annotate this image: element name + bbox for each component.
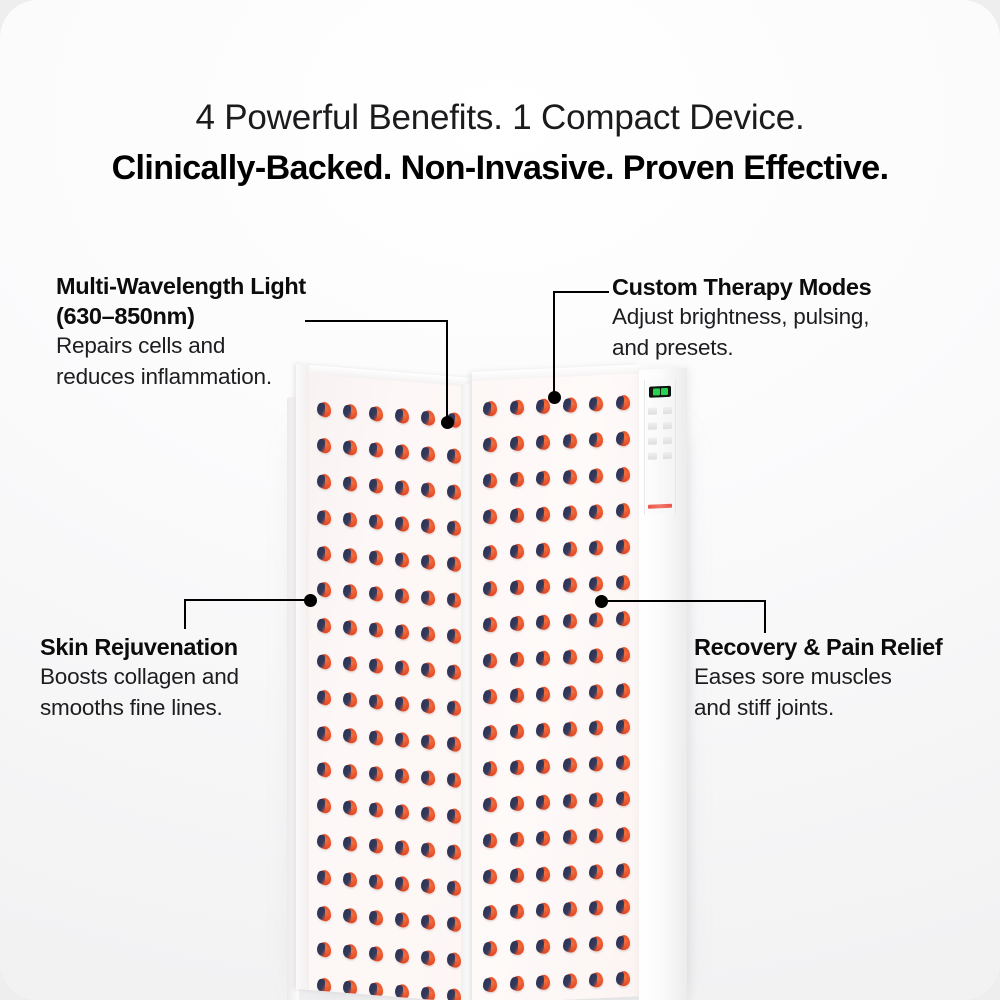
led-dot xyxy=(617,647,630,663)
led-dot xyxy=(344,908,357,924)
led-dot xyxy=(448,556,461,572)
led-dot xyxy=(344,548,357,564)
led-dot xyxy=(590,576,603,592)
led-dot xyxy=(484,617,497,633)
led-dot xyxy=(422,842,435,858)
led-dot xyxy=(590,684,603,700)
led-dot xyxy=(422,410,435,426)
led-dot xyxy=(564,973,577,989)
callout-body-line-2: and presets. xyxy=(612,333,982,364)
callout-title: Recovery & Pain Relief xyxy=(694,632,994,662)
led-dot xyxy=(511,472,524,488)
led-dot xyxy=(617,899,630,915)
control-button[interactable] xyxy=(648,452,657,459)
callout-custom-therapy-modes: Custom Therapy Modes Adjust brightness, … xyxy=(612,272,982,363)
led-dot xyxy=(617,431,630,447)
led-dot xyxy=(370,802,383,818)
led-dot xyxy=(537,902,550,918)
led-dot xyxy=(617,935,630,951)
led-dot xyxy=(318,402,331,418)
led-dot xyxy=(564,505,577,521)
led-dot xyxy=(537,938,550,954)
led-dot xyxy=(396,516,409,532)
led-dot xyxy=(617,791,630,807)
led-dot xyxy=(484,761,497,777)
led-dot xyxy=(370,442,383,458)
callout-body-line-2: smooths fine lines. xyxy=(40,693,370,724)
led-dot xyxy=(344,440,357,456)
led-dot xyxy=(396,984,409,1000)
led-dot xyxy=(511,832,524,848)
led-dot xyxy=(590,936,603,952)
callout-body-line-1: Boosts collagen and xyxy=(40,662,370,693)
control-panel xyxy=(644,379,676,515)
led-dot xyxy=(396,912,409,928)
led-dot xyxy=(396,480,409,496)
led-dot xyxy=(590,972,603,988)
led-dot xyxy=(448,772,461,788)
led-dot xyxy=(537,434,550,450)
callout-body-line-2: reduces inflammation. xyxy=(56,362,456,393)
led-dot xyxy=(396,768,409,784)
led-dot xyxy=(590,612,603,628)
led-dot xyxy=(564,937,577,953)
led-dot xyxy=(370,514,383,530)
led-dot xyxy=(537,830,550,846)
led-dot xyxy=(537,650,550,666)
led-dot xyxy=(484,437,497,453)
led-dot xyxy=(537,578,550,594)
led-dot xyxy=(370,658,383,674)
led-dot xyxy=(590,396,603,412)
led-dot xyxy=(511,580,524,596)
led-dot xyxy=(370,730,383,746)
led-dot xyxy=(422,446,435,462)
led-dot xyxy=(448,484,461,500)
control-button[interactable] xyxy=(663,437,672,444)
led-dot xyxy=(370,874,383,890)
led-dot xyxy=(484,581,497,597)
led-panel-right xyxy=(472,364,640,1000)
led-dot xyxy=(590,864,603,880)
led-dot xyxy=(537,866,550,882)
led-dot xyxy=(511,796,524,812)
led-dot xyxy=(564,829,577,845)
led-dot xyxy=(344,872,357,888)
led-dot xyxy=(564,433,577,449)
led-dot xyxy=(564,397,577,413)
led-dot xyxy=(484,977,497,993)
display-segment xyxy=(661,388,668,395)
led-dot xyxy=(484,941,497,957)
connector-line-custom-modes-horizontal xyxy=(553,291,609,293)
led-dot xyxy=(511,976,524,992)
led-dot xyxy=(318,834,331,850)
led-dot xyxy=(370,550,383,566)
led-dot xyxy=(617,611,630,627)
led-dot xyxy=(318,510,331,526)
led-dot xyxy=(318,546,331,562)
led-dot xyxy=(617,539,630,555)
led-dot xyxy=(537,542,550,558)
led-dot xyxy=(484,689,497,705)
led-dot xyxy=(370,766,383,782)
led-dot xyxy=(318,438,331,454)
callout-body-line-1: Eases sore muscles xyxy=(694,662,994,693)
device-illustration xyxy=(0,0,1000,1000)
led-dot xyxy=(344,836,357,852)
led-dot xyxy=(484,797,497,813)
led-dot xyxy=(511,616,524,632)
led-dot xyxy=(370,946,383,962)
led-dot xyxy=(396,804,409,820)
led-dot xyxy=(590,468,603,484)
led-dot xyxy=(318,582,331,598)
led-dot xyxy=(318,474,331,490)
led-dot xyxy=(344,476,357,492)
led-dot xyxy=(484,833,497,849)
led-dot xyxy=(564,577,577,593)
led-dot xyxy=(617,863,630,879)
led-dot xyxy=(448,448,461,464)
led-dot xyxy=(344,944,357,960)
control-button[interactable] xyxy=(648,437,657,444)
led-dot xyxy=(422,950,435,966)
led-dot xyxy=(617,575,630,591)
led-dot xyxy=(422,698,435,714)
led-dot xyxy=(564,793,577,809)
led-dot xyxy=(370,982,383,998)
led-dot xyxy=(617,827,630,843)
led-dot xyxy=(344,728,357,744)
led-dot xyxy=(564,721,577,737)
led-dot xyxy=(511,688,524,704)
led-dot xyxy=(590,504,603,520)
led-dot xyxy=(537,974,550,990)
led-dot xyxy=(422,914,435,930)
led-dot xyxy=(370,406,383,422)
led-dot xyxy=(484,725,497,741)
control-button[interactable] xyxy=(648,407,657,414)
led-dot xyxy=(511,904,524,920)
led-dot xyxy=(396,552,409,568)
led-dot xyxy=(318,906,331,922)
led-dot xyxy=(344,584,357,600)
led-dot xyxy=(422,482,435,498)
control-button[interactable] xyxy=(663,422,672,429)
led-dot xyxy=(511,508,524,524)
led-dot xyxy=(396,660,409,676)
callout-title: Skin Rejuvenation xyxy=(40,632,370,662)
led-dot xyxy=(537,758,550,774)
led-dot xyxy=(564,901,577,917)
led-dot xyxy=(422,806,435,822)
led-dot xyxy=(564,469,577,485)
led-dot xyxy=(318,798,331,814)
led-dot xyxy=(370,622,383,638)
led-dot xyxy=(422,662,435,678)
callout-body-line-1: Adjust brightness, pulsing, xyxy=(612,302,982,333)
led-dot xyxy=(590,828,603,844)
brand-logo-strip xyxy=(648,504,672,509)
led-dot xyxy=(564,649,577,665)
led-dot xyxy=(537,794,550,810)
connector-dot-skin xyxy=(304,594,317,607)
led-dot xyxy=(318,726,331,742)
led-dot xyxy=(344,800,357,816)
infographic-card: 4 Powerful Benefits. 1 Compact Device. C… xyxy=(0,0,1000,1000)
led-dot xyxy=(448,916,461,932)
callout-skin-rejuvenation: Skin Rejuvenation Boosts collagen and sm… xyxy=(40,632,370,723)
connector-line-skin-horizontal xyxy=(184,599,312,601)
led-dot xyxy=(511,436,524,452)
led-dot xyxy=(422,770,435,786)
right-panel-top-frame xyxy=(472,364,640,381)
led-dot xyxy=(396,840,409,856)
led-dot xyxy=(344,512,357,528)
led-dot xyxy=(396,408,409,424)
led-dot xyxy=(617,395,630,411)
connector-line-skin-vertical xyxy=(184,600,186,629)
led-dot xyxy=(448,988,461,1000)
led-dot xyxy=(448,844,461,860)
led-dot xyxy=(448,736,461,752)
connector-dot-multi-wavelength xyxy=(441,416,454,429)
led-dot xyxy=(564,541,577,557)
connector-line-custom-modes-vertical xyxy=(553,291,555,397)
led-dot xyxy=(564,757,577,773)
led-dot xyxy=(396,732,409,748)
led-dot xyxy=(396,696,409,712)
led-dot xyxy=(564,865,577,881)
led-dot xyxy=(484,653,497,669)
led-dot xyxy=(537,470,550,486)
led-dot xyxy=(422,554,435,570)
led-dot xyxy=(511,652,524,668)
led-dot xyxy=(537,686,550,702)
led-dot xyxy=(484,869,497,885)
led-dot xyxy=(370,910,383,926)
led-dot xyxy=(448,664,461,680)
led-dot xyxy=(590,756,603,772)
led-dot xyxy=(511,544,524,560)
callout-body-line-2: and stiff joints. xyxy=(694,693,994,724)
led-dot xyxy=(617,755,630,771)
led-dot xyxy=(318,978,331,994)
led-dot xyxy=(448,592,461,608)
led-dot xyxy=(422,626,435,642)
led-dot xyxy=(396,624,409,640)
led-dot xyxy=(448,628,461,644)
led-dot xyxy=(537,722,550,738)
led-display-screen xyxy=(649,386,671,398)
led-dot xyxy=(564,613,577,629)
led-dot xyxy=(448,700,461,716)
control-button-grid[interactable] xyxy=(648,407,672,460)
led-dot xyxy=(422,734,435,750)
led-dot xyxy=(484,473,497,489)
led-dot xyxy=(318,762,331,778)
led-dot xyxy=(511,400,524,416)
connector-dot-custom-modes xyxy=(548,391,561,404)
callout-recovery-pain-relief: Recovery & Pain Relief Eases sore muscle… xyxy=(694,632,994,723)
led-dot xyxy=(448,880,461,896)
led-dot xyxy=(370,586,383,602)
led-dot xyxy=(484,905,497,921)
led-dot xyxy=(617,683,630,699)
control-button[interactable] xyxy=(663,452,672,459)
led-dot xyxy=(511,760,524,776)
led-dot xyxy=(537,506,550,522)
display-segment xyxy=(653,388,660,395)
connector-line-recovery-vertical xyxy=(764,600,766,633)
led-dot xyxy=(422,986,435,1000)
callout-body-line-1: Repairs cells and xyxy=(56,331,456,362)
led-dot xyxy=(484,509,497,525)
led-dot xyxy=(396,588,409,604)
led-dot xyxy=(590,792,603,808)
led-dot xyxy=(318,942,331,958)
led-grid-right xyxy=(484,394,640,1000)
led-dot xyxy=(590,648,603,664)
led-dot xyxy=(564,685,577,701)
led-dot xyxy=(537,614,550,630)
callout-title-second-line: (630–850nm) xyxy=(56,301,456,331)
led-dot xyxy=(396,444,409,460)
led-dot xyxy=(617,503,630,519)
led-dot xyxy=(511,868,524,884)
led-dot xyxy=(590,900,603,916)
led-dot xyxy=(370,838,383,854)
callout-title: Multi-Wavelength Light xyxy=(56,271,456,301)
connector-line-recovery-horizontal xyxy=(604,600,766,602)
led-dot xyxy=(396,876,409,892)
led-dot xyxy=(590,540,603,556)
callout-multi-wavelength-light: Multi-Wavelength Light (630–850nm) Repai… xyxy=(56,271,456,392)
led-dot xyxy=(370,478,383,494)
led-dot xyxy=(617,719,630,735)
led-dot xyxy=(511,940,524,956)
led-dot xyxy=(422,590,435,606)
control-button[interactable] xyxy=(648,422,657,429)
led-dot xyxy=(484,401,497,417)
led-dot xyxy=(422,878,435,894)
led-dot xyxy=(396,948,409,964)
led-dot xyxy=(344,404,357,420)
led-dot xyxy=(344,764,357,780)
led-dot xyxy=(617,467,630,483)
led-dot xyxy=(617,971,630,987)
led-dot xyxy=(344,980,357,996)
callout-title: Custom Therapy Modes xyxy=(612,272,982,302)
led-dot xyxy=(590,720,603,736)
led-dot xyxy=(422,518,435,534)
led-dot xyxy=(370,694,383,710)
led-dot xyxy=(448,808,461,824)
led-dot xyxy=(511,724,524,740)
led-dot xyxy=(590,432,603,448)
led-dot xyxy=(448,520,461,536)
led-dot xyxy=(448,952,461,968)
led-dot xyxy=(318,870,331,886)
control-button[interactable] xyxy=(663,407,672,414)
led-dot xyxy=(484,545,497,561)
